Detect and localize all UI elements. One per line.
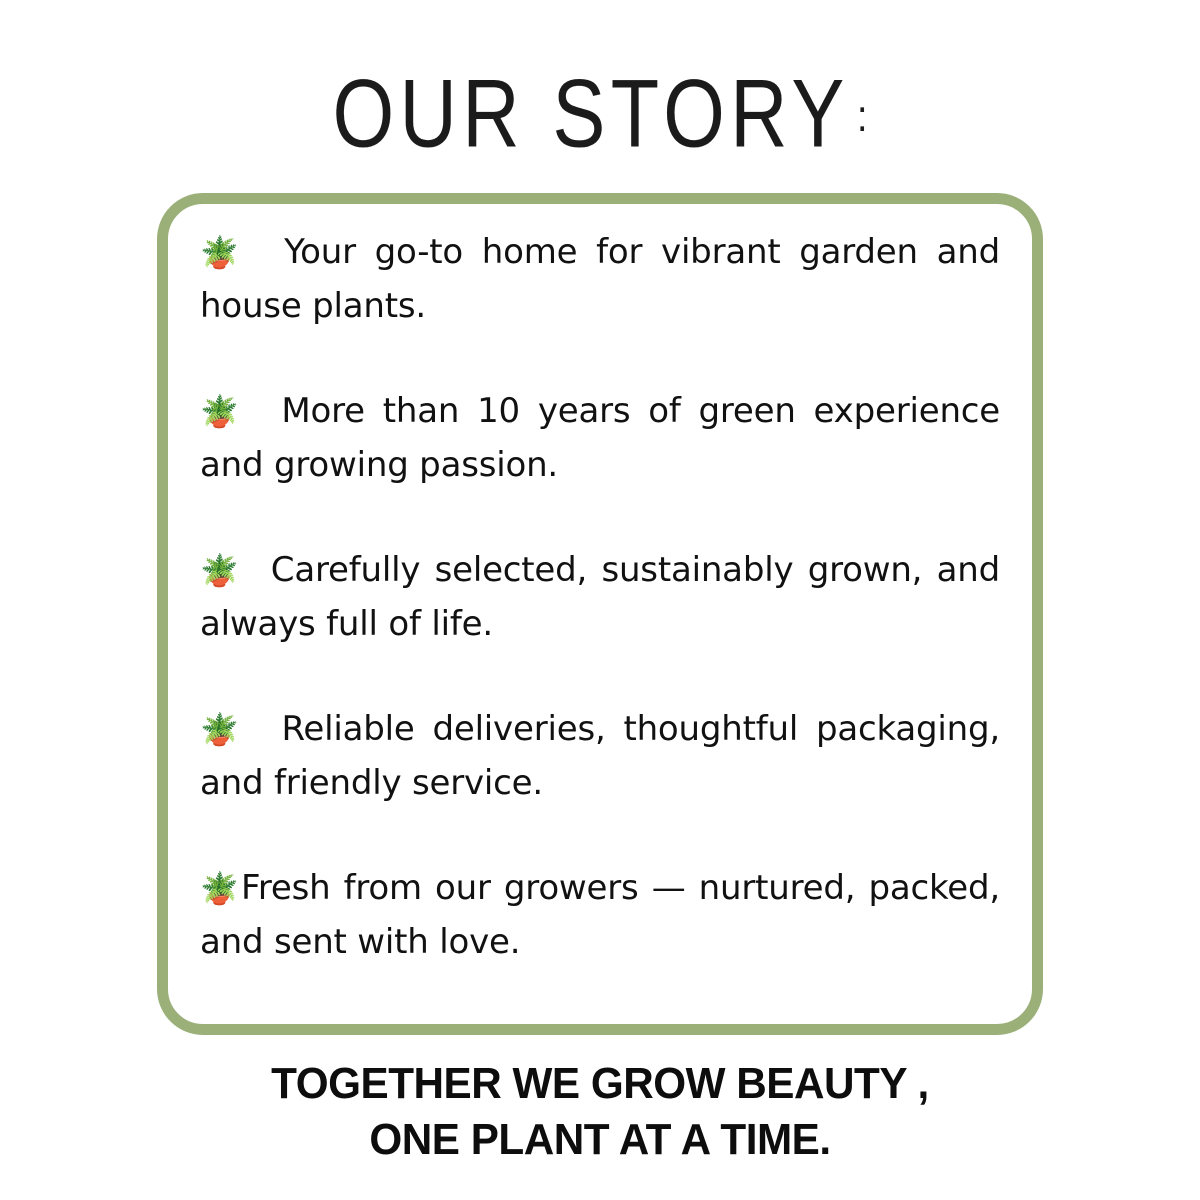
page-title: OUR STORY: bbox=[48, 66, 1152, 162]
list-item: 🪴 More than 10 years of green experience… bbox=[200, 385, 1000, 492]
page-title-colon: : bbox=[857, 92, 867, 141]
story-card: 🪴 Your go-to home for vibrant garden and… bbox=[157, 193, 1043, 1035]
list-item-text: More than 10 years of green experience a… bbox=[200, 391, 1000, 485]
potted-plant-icon: 🪴 bbox=[200, 553, 242, 589]
page-title-text: OUR STORY bbox=[333, 60, 850, 168]
potted-plant-icon: 🪴 bbox=[200, 235, 247, 271]
list-item: 🪴 Reliable deliveries, thoughtful packag… bbox=[200, 703, 1000, 810]
footer-tagline: TOGETHER WE GROW BEAUTY , ONE PLANT AT A… bbox=[0, 1056, 1200, 1168]
list-item: 🪴 Your go-to home for vibrant garden and… bbox=[200, 226, 1000, 333]
potted-plant-icon: 🪴 bbox=[200, 394, 246, 430]
list-item-text: Reliable deliveries, thoughtful packagin… bbox=[200, 709, 1000, 803]
list-item: 🪴 Carefully selected, sustainably grown,… bbox=[200, 544, 1000, 651]
potted-plant-icon: 🪴 bbox=[200, 712, 246, 748]
footer-tagline-line-2: ONE PLANT AT A TIME. bbox=[24, 1112, 1176, 1168]
list-item-text: Carefully selected, sustainably grown, a… bbox=[200, 550, 1000, 644]
story-card-content: 🪴 Your go-to home for vibrant garden and… bbox=[200, 226, 1000, 1014]
list-item-text: Fresh from our growers — nurtured, packe… bbox=[200, 868, 1000, 962]
list-item-text: Your go-to home for vibrant garden and h… bbox=[200, 232, 1000, 326]
poster-page: OUR STORY: 🪴 Your go-to home for vibrant… bbox=[0, 0, 1200, 1200]
potted-plant-icon: 🪴 bbox=[200, 871, 241, 907]
footer-tagline-line-1: TOGETHER WE GROW BEAUTY , bbox=[24, 1056, 1176, 1112]
list-item: 🪴Fresh from our growers — nurtured, pack… bbox=[200, 862, 1000, 969]
